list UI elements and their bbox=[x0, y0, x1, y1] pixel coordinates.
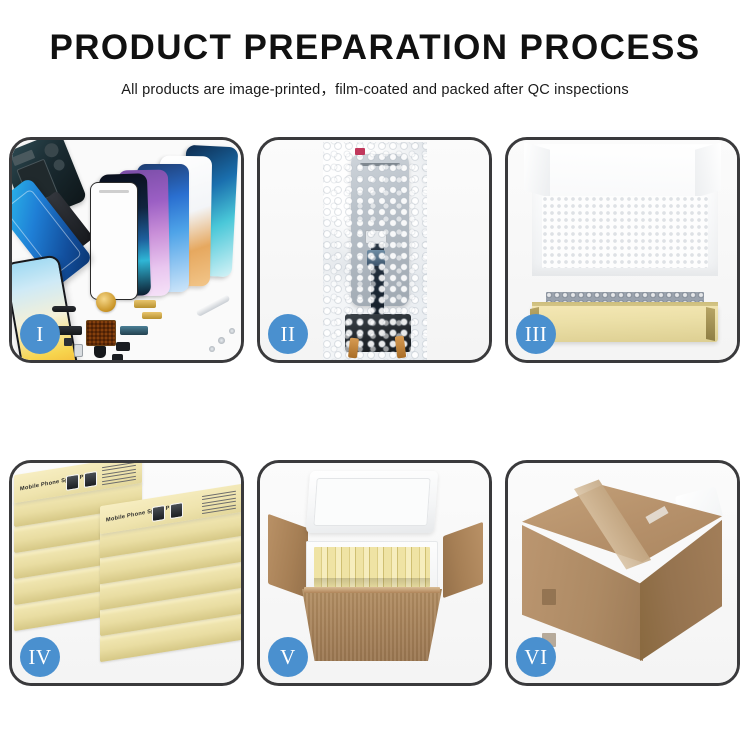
box-flap-icon bbox=[695, 142, 721, 197]
page-title: PRODUCT PREPARATION PROCESS bbox=[0, 30, 750, 67]
tray-corner-icon bbox=[706, 307, 715, 341]
bubble-wrap-bag-icon bbox=[323, 142, 427, 360]
step-badge-3: III bbox=[516, 314, 556, 354]
phone-artwork-icon bbox=[170, 502, 183, 519]
phone-artwork-icon bbox=[66, 474, 79, 491]
red-label-icon bbox=[355, 148, 365, 155]
kraft-tray-icon bbox=[532, 306, 718, 342]
process-step-panel-4: Mobile Phone Spare Parts Mobile Phone Sp… bbox=[9, 460, 244, 686]
header: PRODUCT PREPARATION PROCESS All products… bbox=[0, 0, 750, 99]
step-badge-1: I bbox=[20, 314, 60, 354]
screw-icon bbox=[218, 337, 225, 344]
process-step-panel-3: III bbox=[505, 137, 740, 363]
process-step-panel-2: II bbox=[257, 137, 492, 363]
process-step-panel-1: I bbox=[9, 137, 244, 363]
carton-rim bbox=[304, 587, 440, 593]
glass-screen-icon bbox=[90, 182, 138, 300]
flex-cable-icon bbox=[120, 326, 148, 335]
step-badge-6: VI bbox=[516, 637, 556, 677]
small-part-icon bbox=[112, 354, 123, 360]
infographic-page: PRODUCT PREPARATION PROCESS All products… bbox=[0, 0, 750, 750]
carton-body-icon bbox=[302, 589, 442, 661]
flap-tab-icon bbox=[542, 589, 556, 605]
chip-array-icon bbox=[86, 320, 116, 346]
screw-icon bbox=[229, 328, 235, 334]
step-badge-4: IV bbox=[20, 637, 60, 677]
phone-artwork-icon bbox=[84, 471, 97, 488]
box-flap-icon bbox=[524, 142, 550, 197]
earpiece-part-icon bbox=[52, 306, 76, 312]
process-steps-grid: I II bbox=[9, 137, 741, 686]
sealed-carton-icon bbox=[522, 485, 722, 667]
flex-cable-icon bbox=[134, 300, 156, 308]
step-badge-5: V bbox=[268, 637, 308, 677]
copper-tape-icon bbox=[347, 338, 358, 359]
speaker-coil-icon bbox=[96, 292, 116, 312]
small-part-icon bbox=[94, 346, 106, 358]
step-badge-2: II bbox=[268, 314, 308, 354]
carton-flap-icon bbox=[443, 522, 483, 599]
process-step-panel-6: VI bbox=[505, 460, 740, 686]
small-part-icon bbox=[64, 338, 72, 346]
yellow-inner-boxes-icon bbox=[314, 547, 430, 587]
white-foam-sheet-icon bbox=[542, 196, 708, 268]
sim-tray-icon bbox=[74, 344, 83, 357]
spec-lines bbox=[202, 491, 236, 515]
flex-cable-icon bbox=[142, 312, 162, 319]
screw-icon bbox=[209, 346, 215, 352]
process-step-panel-5: V bbox=[257, 460, 492, 686]
phone-artwork-icon bbox=[152, 505, 165, 522]
eps-foam-lid-icon bbox=[306, 471, 438, 533]
small-part-icon bbox=[116, 342, 130, 351]
carton-flap-icon bbox=[268, 514, 308, 599]
bubble-texture bbox=[323, 142, 427, 360]
spec-lines bbox=[102, 463, 136, 486]
stylus-tool-icon bbox=[195, 294, 230, 317]
page-subtitle: All products are image-printed，film-coat… bbox=[0, 78, 750, 99]
